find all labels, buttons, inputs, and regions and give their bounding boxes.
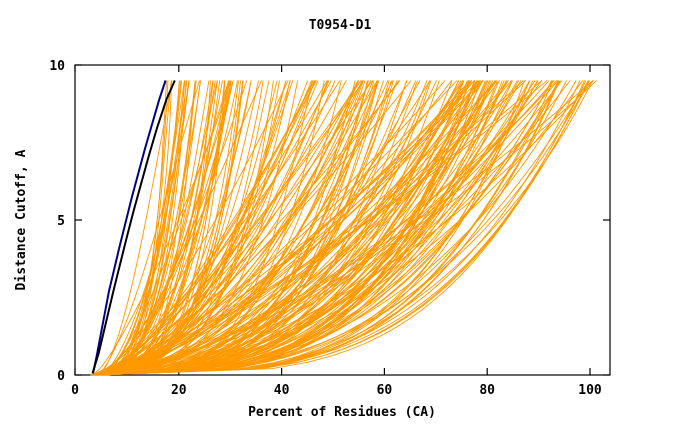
chart-container: T0954-D1 [0, 0, 680, 440]
x-tick-label: 20 [171, 383, 187, 398]
y-tick-labels: 0 5 10 [49, 59, 65, 384]
y-axis-label: Distance Cutoff, A [14, 149, 29, 290]
prediction-curves [91, 81, 597, 376]
x-tick-label: 0 [71, 383, 79, 398]
plot-area: 0 20 40 60 80 100 0 5 10 Percent of Resi… [0, 0, 680, 440]
x-tick-label: 80 [479, 383, 495, 398]
x-tick-label: 60 [377, 383, 393, 398]
y-tick-label: 10 [49, 59, 65, 74]
x-axis-label: Percent of Residues (CA) [248, 405, 436, 420]
y-tick-label: 5 [57, 214, 65, 229]
x-tick-label: 40 [274, 383, 290, 398]
x-tick-label: 100 [578, 383, 602, 398]
y-tick-label: 0 [57, 369, 65, 384]
x-tick-labels: 0 20 40 60 80 100 [71, 383, 602, 398]
